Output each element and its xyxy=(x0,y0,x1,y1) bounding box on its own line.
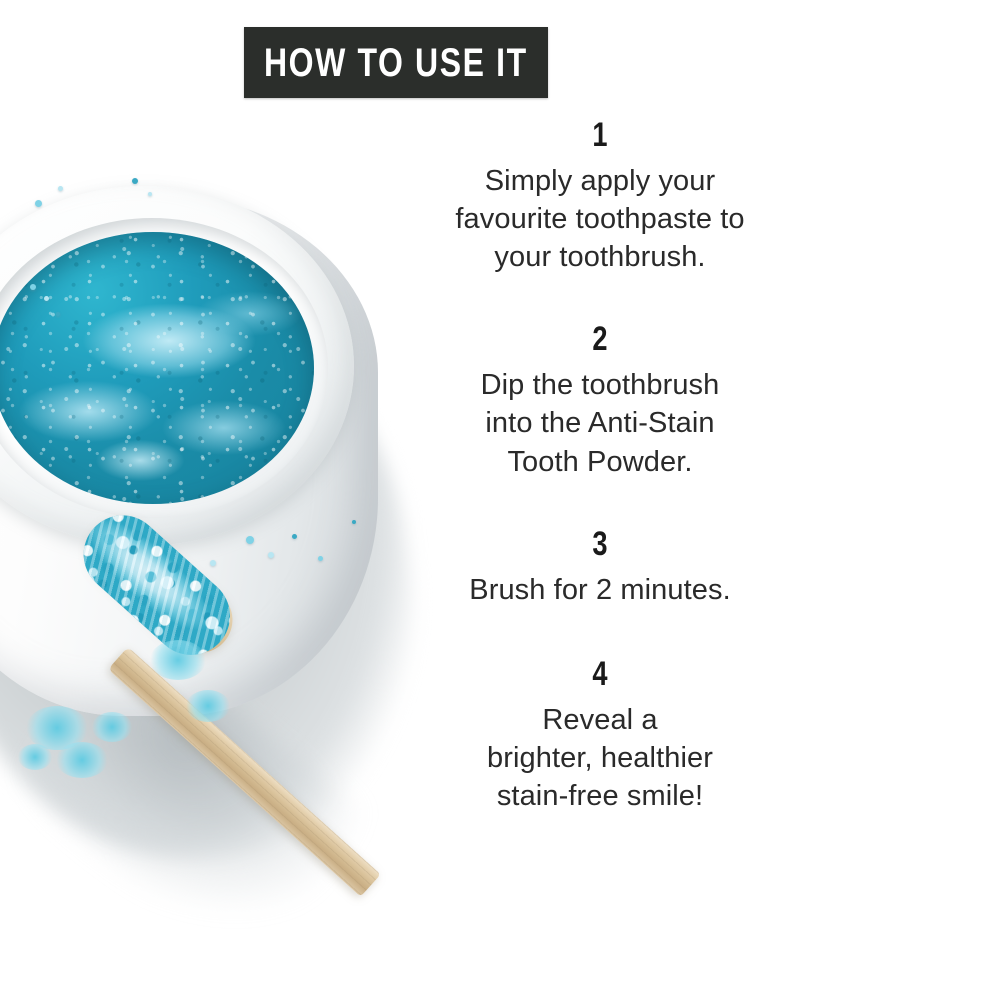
powder-grain xyxy=(292,534,297,539)
step-number: 1 xyxy=(440,118,760,154)
powder-grain xyxy=(30,284,36,290)
step-number: 3 xyxy=(440,527,760,563)
powder-grain xyxy=(352,520,356,524)
step-text-line: Reveal a xyxy=(400,701,800,739)
spilled-powder xyxy=(18,744,52,770)
step-text-line: into the Anti-Stain xyxy=(400,404,800,442)
step-text: Dip the toothbrush into the Anti-Stain T… xyxy=(400,366,800,481)
powder-grain xyxy=(268,552,274,558)
page-title: HOW TO USE IT xyxy=(264,43,528,83)
step-text-line: brighter, healthier xyxy=(400,739,800,777)
powder-grain xyxy=(148,192,152,196)
powder-grain xyxy=(318,556,323,561)
step-text-line: stain-free smile! xyxy=(400,777,800,815)
step-item-1: 1 Simply apply your favourite toothpaste… xyxy=(400,118,800,276)
step-text: Reveal a brighter, healthier stain-free … xyxy=(400,701,800,816)
step-text: Simply apply your favourite toothpaste t… xyxy=(400,162,800,277)
step-number: 2 xyxy=(440,322,760,358)
bamboo-toothbrush xyxy=(10,585,440,1000)
spilled-powder xyxy=(56,742,108,778)
powder-grain xyxy=(56,312,60,316)
section-title-badge: HOW TO USE IT xyxy=(244,27,548,98)
step-text: Brush for 2 minutes. xyxy=(400,571,800,609)
powder-grain xyxy=(210,560,216,566)
step-item-3: 3 Brush for 2 minutes. xyxy=(400,527,800,609)
step-number: 4 xyxy=(440,657,760,693)
tooth-powder-in-jar xyxy=(0,232,314,504)
spilled-powder xyxy=(150,640,206,680)
step-text-line: Simply apply your xyxy=(400,162,800,200)
product-photo xyxy=(0,0,440,1000)
powder-grain xyxy=(246,536,254,544)
step-text-line: Tooth Powder. xyxy=(400,443,800,481)
spilled-powder xyxy=(186,690,230,722)
powder-grain xyxy=(58,186,63,191)
step-item-4: 4 Reveal a brighter, healthier stain-fre… xyxy=(400,657,800,815)
step-item-2: 2 Dip the toothbrush into the Anti-Stain… xyxy=(400,322,800,480)
infographic-canvas: HOW TO USE IT 1 Simply apply your favour… xyxy=(0,0,1000,1000)
step-text-line: your toothbrush. xyxy=(400,238,800,276)
step-text-line: Dip the toothbrush xyxy=(400,366,800,404)
instruction-steps-list: 1 Simply apply your favourite toothpaste… xyxy=(400,118,800,821)
spilled-powder xyxy=(92,712,132,742)
powder-grain xyxy=(44,296,49,301)
step-text-line: Brush for 2 minutes. xyxy=(400,571,800,609)
toothbrush-handle xyxy=(108,647,381,897)
step-text-line: favourite toothpaste to xyxy=(400,200,800,238)
powder-grain xyxy=(35,200,42,207)
powder-grain xyxy=(132,178,138,184)
